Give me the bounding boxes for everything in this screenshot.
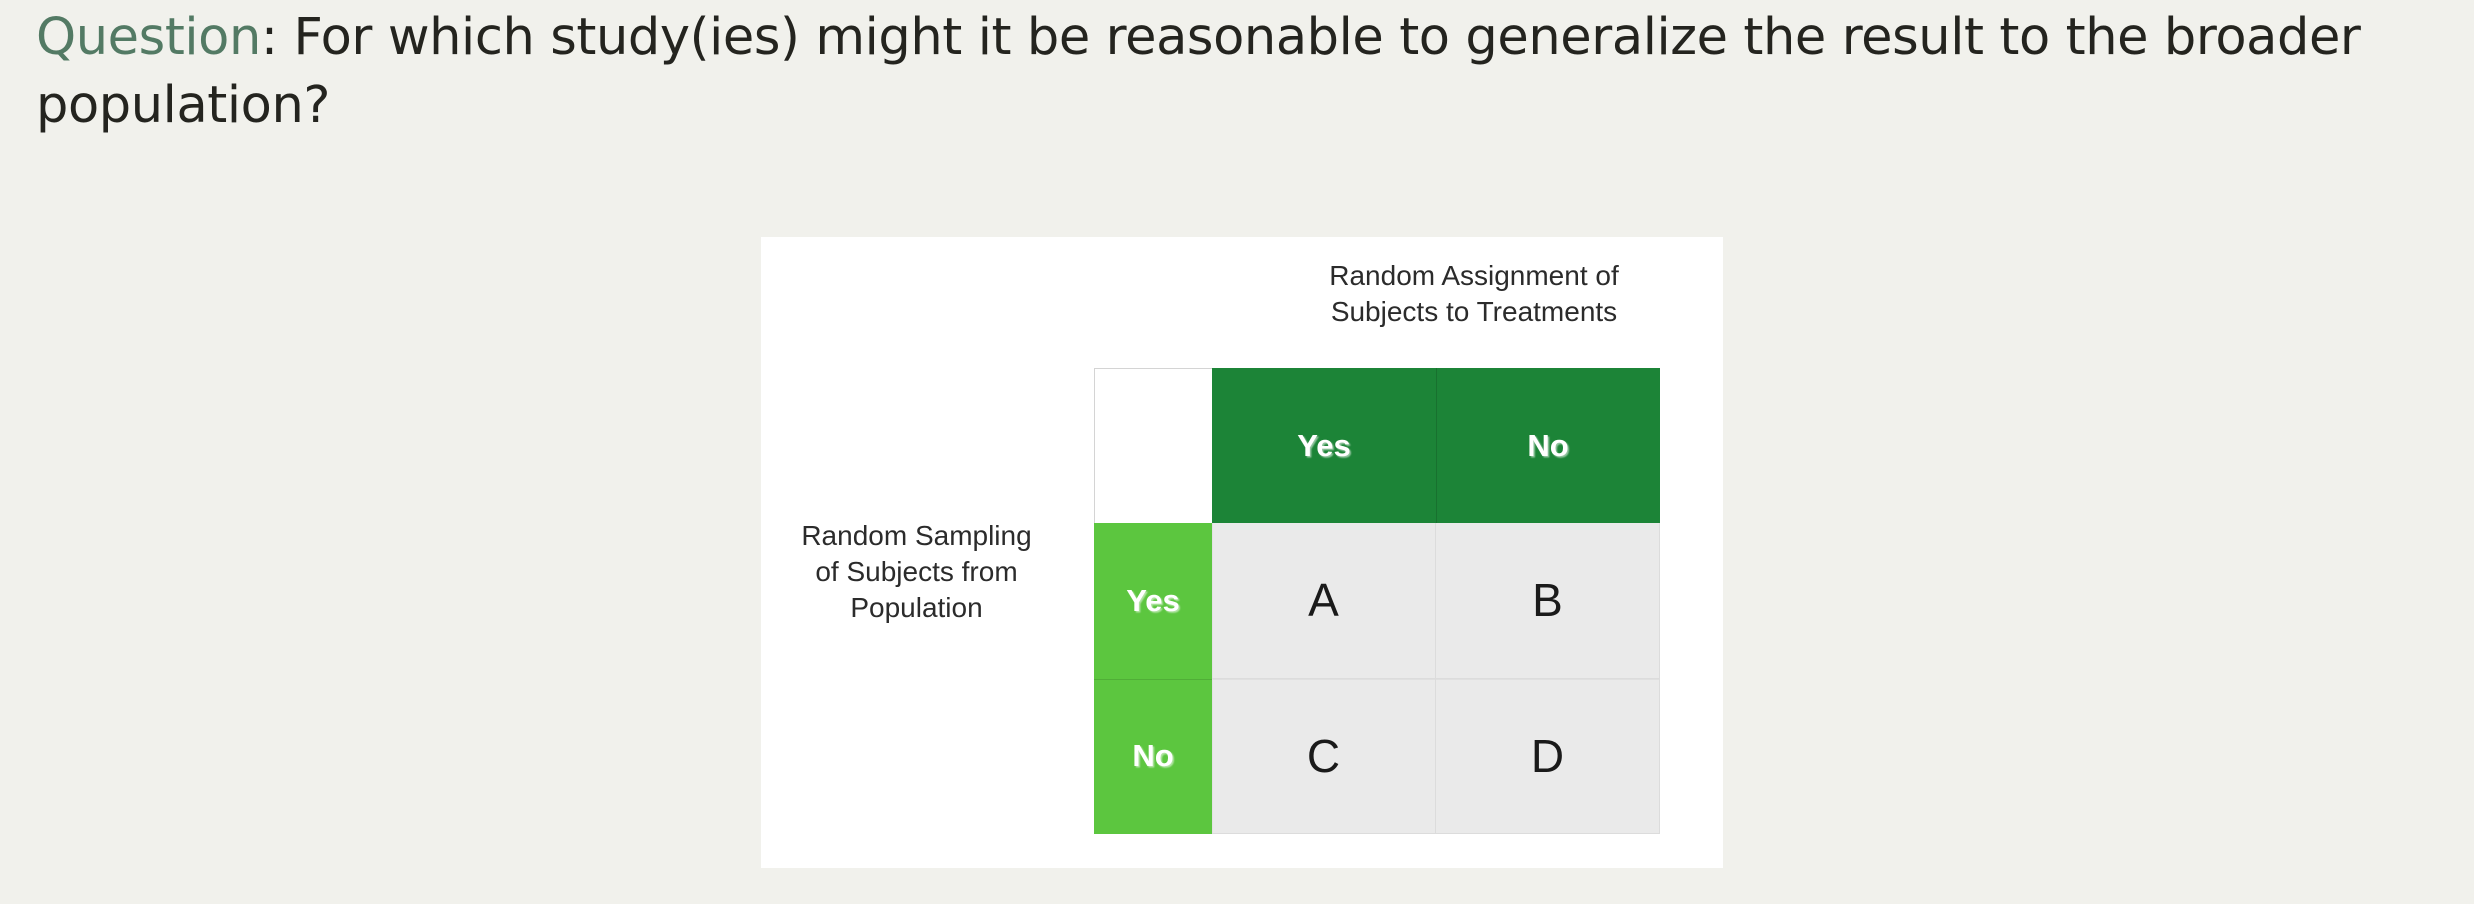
row-header-no: No [1094,679,1212,835]
page-root: Question: For which study(ies) might it … [0,0,2474,904]
column-header-no: No [1436,368,1660,523]
study-design-matrix: Random Assignment of Subjects to Treatme… [1094,368,1660,834]
column-header-yes: Yes [1212,368,1436,523]
row-axis-caption: Random Sampling of Subjects from Populat… [754,518,1079,625]
matrix-cell-b: B [1436,523,1660,679]
question-heading: Question: For which study(ies) might it … [36,4,2436,141]
question-separator: : [261,8,294,67]
matrix-grid: Yes No Yes A B No C D [1094,368,1660,834]
question-text: For which study(ies) might it be reasona… [36,8,2361,135]
question-label: Question [36,8,261,67]
matrix-corner-cell [1094,368,1212,523]
figure-card: Random Assignment of Subjects to Treatme… [761,237,1723,868]
matrix-cell-c: C [1212,679,1436,835]
matrix-cell-a: A [1212,523,1436,679]
matrix-cell-d: D [1436,679,1660,835]
column-axis-caption: Random Assignment of Subjects to Treatme… [1274,258,1674,330]
row-header-yes: Yes [1094,523,1212,679]
